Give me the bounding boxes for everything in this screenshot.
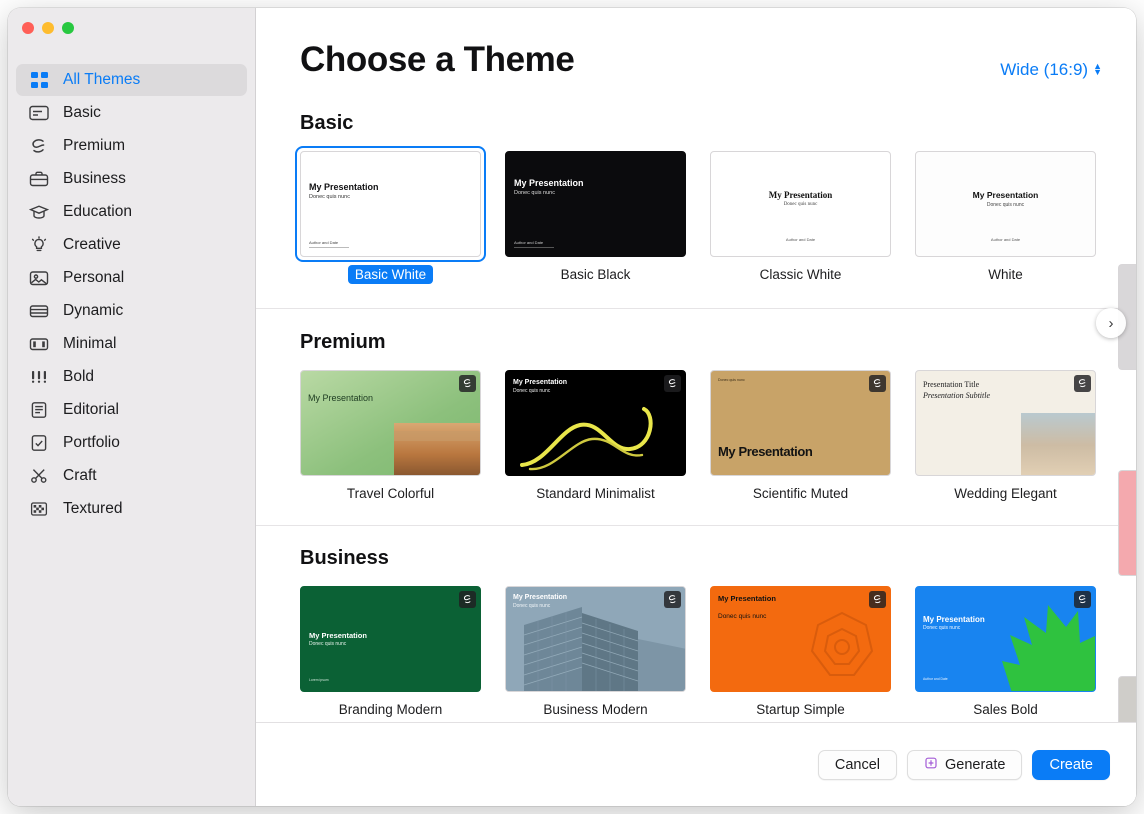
premium-badge-icon [459, 375, 476, 392]
thumb-subtitle: Donec quis nunc [513, 603, 550, 609]
section-premium: Premium My Presentation [256, 331, 1136, 501]
section-title: Premium [300, 331, 1136, 354]
page-title: Choose a Theme [300, 40, 574, 80]
theme-name: Sales Bold [915, 702, 1096, 717]
dynamic-bars-icon [28, 300, 50, 322]
cancel-button[interactable]: Cancel [818, 750, 897, 780]
generate-label: Generate [945, 757, 1005, 773]
theme-card-standard-minimalist[interactable]: My Presentation Donec quis nunc [505, 370, 686, 501]
theme-card-business-modern[interactable]: My Presentation Donec quis nunc Business… [505, 586, 686, 717]
thumb-subtitle: Donec quis nunc [309, 641, 346, 647]
thumb-footer: Author and Date [916, 237, 1095, 242]
thumb-title: My Presentation [514, 178, 584, 188]
theme-card-white[interactable]: My Presentation Donec quis nunc Author a… [915, 151, 1096, 284]
thumb-title: My Presentation [923, 615, 985, 624]
sidebar-item-premium[interactable]: Premium [16, 130, 247, 162]
section-business: Business My Presentation Donec quis nunc… [256, 547, 1136, 717]
close-window-button[interactable] [22, 22, 34, 34]
theme-name: Business Modern [505, 702, 686, 717]
sidebar-item-label: Business [63, 171, 126, 187]
sidebar-item-label: Creative [63, 237, 121, 253]
theme-name: Basic White [348, 265, 433, 284]
theme-card-startup-simple[interactable]: My Presentation Donec quis nunc Startup … [710, 586, 891, 717]
sidebar-item-education[interactable]: Education [16, 196, 247, 228]
thumb-footer: Author and Date [309, 240, 338, 245]
thumb-subtitle: Donec quis nunc [718, 613, 778, 621]
theme-card-travel-colorful[interactable]: My Presentation Travel C [300, 370, 481, 501]
sidebar-item-label: Portfolio [63, 435, 120, 451]
premium-badge-icon [459, 591, 476, 608]
theme-thumbnail[interactable]: My Presentation Donec quis nunc Author a… [710, 151, 891, 257]
sidebar-item-textured[interactable]: Textured [16, 493, 247, 525]
theme-card-branding-modern[interactable]: My Presentation Donec quis nunc Lorem ip… [300, 586, 481, 717]
thumb-title: Presentation Title [923, 380, 979, 389]
premium-badge-icon [1074, 375, 1091, 392]
thumb-footer: Lorem ipsum [309, 678, 329, 682]
theme-thumbnail[interactable]: My Presentation Donec quis nunc Author a… [915, 586, 1096, 692]
thumb-footer: Author and Date [514, 240, 543, 245]
thumb-subtitle: Donec quis nunc [916, 202, 1095, 208]
thumb-subtitle: Donec quis nunc [718, 378, 745, 382]
thumb-title: My Presentation [718, 444, 812, 459]
theme-name: Basic Black [505, 267, 686, 282]
texture-weave-icon [28, 498, 50, 520]
theme-thumbnail[interactable]: My Presentation Donec quis nunc Lorem ip… [300, 586, 481, 692]
theme-card-basic-black[interactable]: My Presentation Donec quis nunc Author a… [505, 151, 686, 284]
sidebar-item-label: Education [63, 204, 132, 220]
theme-name: Branding Modern [300, 702, 481, 717]
premium-ribbon-icon [28, 135, 50, 157]
theme-scroll-area[interactable]: Basic My Presentation Donec quis nunc Au… [256, 112, 1136, 722]
minimize-window-button[interactable] [42, 22, 54, 34]
theme-name: Classic White [710, 267, 891, 282]
sidebar-item-label: Bold [63, 369, 94, 385]
thumb-subtitle: Donec quis nunc [309, 194, 350, 200]
sidebar-item-craft[interactable]: Craft [16, 460, 247, 492]
scissors-icon [28, 465, 50, 487]
up-down-chevron-icon: ▲▼ [1093, 63, 1102, 75]
theme-card-classic-white[interactable]: My Presentation Donec quis nunc Author a… [710, 151, 891, 284]
magic-generate-icon [924, 756, 938, 774]
thumb-title: My Presentation [309, 631, 367, 640]
sidebar-item-basic[interactable]: Basic [16, 97, 247, 129]
aspect-ratio-label: Wide (16:9) [1000, 60, 1088, 80]
thumb-title: My Presentation [309, 182, 379, 192]
window-traffic-lights [22, 22, 74, 34]
sidebar-item-label: Dynamic [63, 303, 123, 319]
thumb-subtitle: Presentation Subtitle [923, 391, 990, 400]
sidebar-item-label: Textured [63, 501, 122, 517]
premium-badge-icon [664, 591, 681, 608]
sidebar: All Themes Basic Premium [8, 8, 256, 806]
thumb-subtitle: Donec quis nunc [514, 190, 555, 196]
sidebar-item-portfolio[interactable]: Portfolio [16, 427, 247, 459]
sidebar-item-label: Minimal [63, 336, 116, 352]
sidebar-item-label: Premium [63, 138, 125, 154]
thumb-title: My Presentation [513, 594, 567, 601]
theme-chooser-window: All Themes Basic Premium [8, 8, 1136, 806]
thumb-subtitle: Donec quis nunc [923, 625, 960, 631]
theme-thumbnail[interactable]: My Presentation Donec quis nunc [505, 586, 686, 692]
sidebar-item-label: All Themes [63, 72, 140, 88]
thumb-title: My Presentation [513, 379, 567, 386]
section-divider [256, 525, 1136, 526]
thumb-subtitle: Donec quis nunc [711, 202, 890, 207]
zoom-window-button[interactable] [62, 22, 74, 34]
theme-thumbnail[interactable]: My Presentation Donec quis nunc Author a… [915, 151, 1096, 257]
section-basic: Basic My Presentation Donec quis nunc Au… [256, 112, 1136, 284]
premium-badge-icon [869, 591, 886, 608]
chevron-right-icon[interactable]: › [1096, 308, 1126, 338]
portfolio-check-icon [28, 432, 50, 454]
theme-thumbnail[interactable]: My Presentation Donec quis nunc [505, 370, 686, 476]
theme-card-basic-white[interactable]: My Presentation Donec quis nunc Author a… [300, 151, 481, 284]
theme-card-scientific-muted[interactable]: Donec quis nunc My Presentation Scientif… [710, 370, 891, 501]
theme-thumbnail[interactable]: My Presentation [300, 370, 481, 476]
sidebar-item-personal[interactable]: Personal [16, 262, 247, 294]
generate-button[interactable]: Generate [907, 750, 1022, 780]
sidebar-item-bold[interactable]: Bold [16, 361, 247, 393]
theme-grid: My Presentation Donec quis nunc Lorem ip… [300, 586, 1136, 717]
theme-name: White [915, 267, 1096, 282]
photo-person-icon [28, 267, 50, 289]
sidebar-item-editorial[interactable]: Editorial [16, 394, 247, 426]
sidebar-item-creative[interactable]: Creative [16, 229, 247, 261]
sidebar-item-all-themes[interactable]: All Themes [16, 64, 247, 96]
section-divider [256, 308, 1136, 309]
exclamation-bold-icon [28, 366, 50, 388]
main-panel: Choose a Theme Wide (16:9) ▲▼ Basic My P… [256, 8, 1136, 806]
theme-name: Startup Simple [710, 702, 891, 717]
thumb-title: My Presentation [718, 594, 776, 603]
premium-badge-icon [1074, 591, 1091, 608]
section-title: Basic [300, 112, 1136, 135]
lightbulb-icon [28, 234, 50, 256]
sidebar-item-label: Editorial [63, 402, 119, 418]
section-title: Business [300, 547, 1136, 570]
thumb-title: My Presentation [308, 393, 373, 403]
sidebar-item-minimal[interactable]: Minimal [16, 328, 247, 360]
basic-slide-icon [28, 102, 50, 124]
theme-name: Standard Minimalist [505, 486, 686, 501]
theme-grid: My Presentation Travel C [300, 370, 1136, 501]
thumb-title: My Presentation [916, 190, 1095, 200]
sidebar-item-label: Personal [63, 270, 124, 286]
thumb-title: My Presentation [711, 190, 890, 200]
premium-badge-icon [869, 375, 886, 392]
graduation-cap-icon [28, 201, 50, 223]
theme-name: Wedding Elegant [915, 486, 1096, 501]
theme-card-wedding-elegant[interactable]: Presentation Title Presentation Subtitle [915, 370, 1096, 501]
theme-thumbnail[interactable]: My Presentation Donec quis nunc [710, 586, 891, 692]
theme-peek-thumbnail[interactable] [1118, 676, 1136, 722]
sidebar-item-business[interactable]: Business [16, 163, 247, 195]
theme-name: Scientific Muted [710, 486, 891, 501]
briefcase-icon [28, 168, 50, 190]
editorial-page-icon [28, 399, 50, 421]
theme-peek-thumbnail[interactable] [1118, 470, 1136, 576]
theme-card-sales-bold[interactable]: My Presentation Donec quis nunc Author a… [915, 586, 1096, 717]
thumb-footer: Author and Date [711, 237, 890, 242]
theme-grid: My Presentation Donec quis nunc Author a… [300, 151, 1136, 284]
grid-icon [28, 69, 50, 91]
theme-name: Travel Colorful [300, 486, 481, 501]
theme-thumbnail[interactable]: My Presentation Donec quis nunc Author a… [505, 151, 686, 257]
theme-thumbnail[interactable]: Presentation Title Presentation Subtitle [915, 370, 1096, 476]
create-button[interactable]: Create [1032, 750, 1110, 780]
thumb-footer: Author and Date [923, 677, 948, 681]
sidebar-item-dynamic[interactable]: Dynamic [16, 295, 247, 327]
theme-thumbnail[interactable]: Donec quis nunc My Presentation [710, 370, 891, 476]
sidebar-item-label: Craft [63, 468, 97, 484]
sidebar-item-label: Basic [63, 105, 101, 121]
theme-thumbnail[interactable]: My Presentation Donec quis nunc Author a… [300, 151, 481, 257]
premium-badge-icon [664, 375, 681, 392]
aspect-ratio-selector[interactable]: Wide (16:9) ▲▼ [1000, 60, 1102, 80]
minimal-columns-icon [28, 333, 50, 355]
footer-action-bar: Cancel Generate Create [256, 722, 1136, 806]
